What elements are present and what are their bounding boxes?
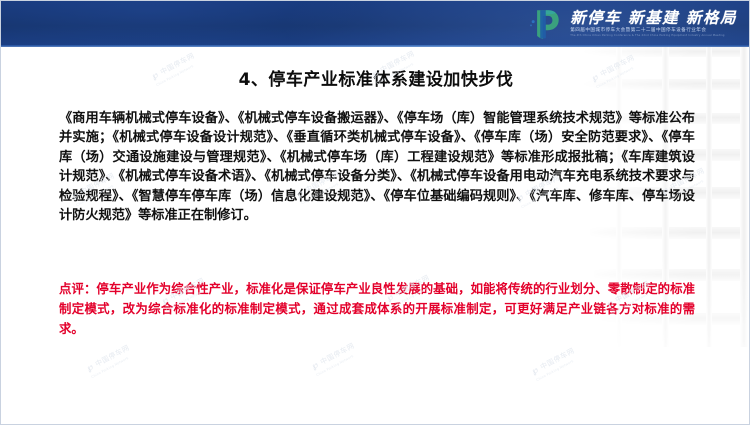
parking-p-logo-icon <box>528 7 564 41</box>
body-paragraph: 《商用车辆机械式停车设备》、《机械式停车设备搬运器》、《停车场（库）智能管理系统… <box>59 109 695 225</box>
page-title: 4、停车产业标准体系建设加快步伐 <box>1 65 750 90</box>
watermark-label-en: China Parking Network <box>315 351 359 377</box>
presentation-slide: 新停车 新基建 新格局 第四届中国城市停车大会暨第二十二届中国停车设备行业年会 … <box>0 0 750 425</box>
commentary-paragraph: 点评：停车产业作为综合性产业，标准化是保证停车产业良性发展的基础，如能将传统的行… <box>59 279 695 339</box>
watermark-logo-icon: ℘ <box>85 362 96 376</box>
watermark: ℘中国停车网China Parking Network <box>85 343 134 379</box>
conference-logo: 新停车 新基建 新格局 第四届中国城市停车大会暨第二十二届中国停车设备行业年会 … <box>528 6 737 42</box>
background-image-fade <box>564 47 749 425</box>
watermark-logo-icon: ℘ <box>310 360 321 374</box>
watermark-logo-icon: ℘ <box>530 365 541 379</box>
conference-logo-subtitle-en: The 4th China Urban Parking Conference &… <box>570 34 737 37</box>
conference-logo-subtitle: 第四届中国城市停车大会暨第二十二届中国停车设备行业年会 <box>570 28 737 34</box>
conference-logo-title: 新停车 新基建 新格局 <box>570 10 737 26</box>
watermark: ℘中国停车网China Parking Network <box>310 341 359 377</box>
conference-logo-text: 新停车 新基建 新格局 第四届中国城市停车大会暨第二十二届中国停车设备行业年会 … <box>570 10 737 37</box>
slide-header-band: 新停车 新基建 新格局 第四届中国城市停车大会暨第二十二届中国停车设备行业年会 … <box>1 1 750 46</box>
watermark-label-en: China Parking Network <box>90 353 134 379</box>
watermark-label: 中国停车网 <box>319 342 356 367</box>
watermark-label: 中国停车网 <box>94 344 131 369</box>
background-parking-structure-image <box>564 47 749 425</box>
